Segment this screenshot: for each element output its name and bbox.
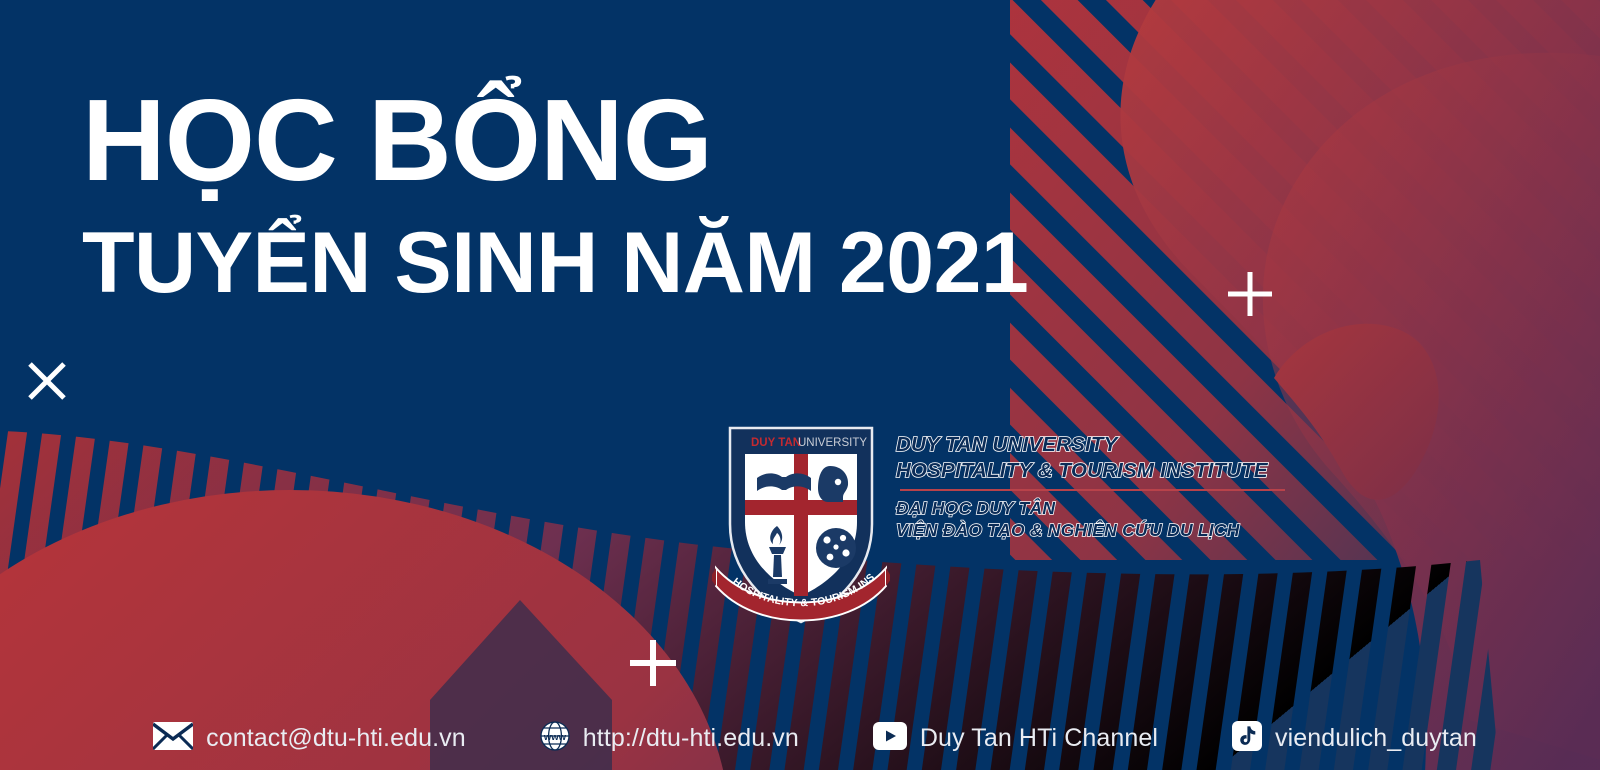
logo-en-line-1: DUY TAN UNIVERSITY bbox=[896, 432, 1285, 458]
contact-youtube[interactable]: Duy Tan HTi Channel bbox=[873, 722, 1158, 755]
logo-vi-line-1: ĐẠI HỌC DUY TÂN bbox=[896, 497, 1285, 520]
crest-header-gray: UNIVERSITY bbox=[798, 437, 867, 449]
university-logo-lockup: DUY TAN UNIVERSITY bbox=[712, 418, 1285, 646]
crest-header-red: DUY TAN bbox=[751, 437, 801, 449]
contact-website-label: http://dtu-hti.edu.vn bbox=[583, 724, 799, 753]
envelope-icon bbox=[153, 722, 193, 755]
headline-line-1: HỌC BỔNG bbox=[82, 82, 1028, 198]
x-mark-icon bbox=[24, 358, 70, 404]
contact-bar: contact@dtu-hti.edu.vn www http://dtu-ht… bbox=[0, 721, 1600, 756]
headline-line-2: TUYỂN SINH NĂM 2021 bbox=[82, 220, 1028, 306]
tiktok-icon bbox=[1232, 721, 1262, 756]
duy-tan-crest-icon: DUY TAN UNIVERSITY bbox=[712, 418, 890, 646]
logo-vi-line-2: VIỆN ĐÀO TẠO & NGHIÊN CỨU DU LỊCH bbox=[896, 519, 1285, 542]
scholarship-announcement-banner: HỌC BỔNG TUYỂN SINH NĂM 2021 DUY TAN UNI… bbox=[0, 0, 1600, 770]
contact-email[interactable]: contact@dtu-hti.edu.vn bbox=[153, 722, 466, 755]
svg-text:www: www bbox=[543, 732, 567, 743]
contact-website[interactable]: www http://dtu-hti.edu.vn bbox=[540, 721, 799, 756]
contact-tiktok[interactable]: viendulich_duytan bbox=[1232, 721, 1477, 756]
logo-en-line-2: HOSPITALITY & TOURISM INSTITUTE bbox=[896, 458, 1285, 484]
plus-mark-right-icon bbox=[1224, 268, 1276, 320]
page-title: HỌC BỔNG TUYỂN SINH NĂM 2021 bbox=[82, 82, 1028, 306]
globe-www-icon: www bbox=[540, 721, 570, 756]
logo-divider bbox=[900, 489, 1285, 491]
plus-mark-bottom-icon bbox=[626, 636, 680, 690]
contact-email-label: contact@dtu-hti.edu.vn bbox=[206, 724, 466, 753]
contact-youtube-label: Duy Tan HTi Channel bbox=[920, 724, 1158, 753]
youtube-icon bbox=[873, 722, 907, 755]
contact-tiktok-label: viendulich_duytan bbox=[1275, 724, 1477, 753]
logo-text-block: DUY TAN UNIVERSITY HOSPITALITY & TOURISM… bbox=[896, 418, 1285, 542]
